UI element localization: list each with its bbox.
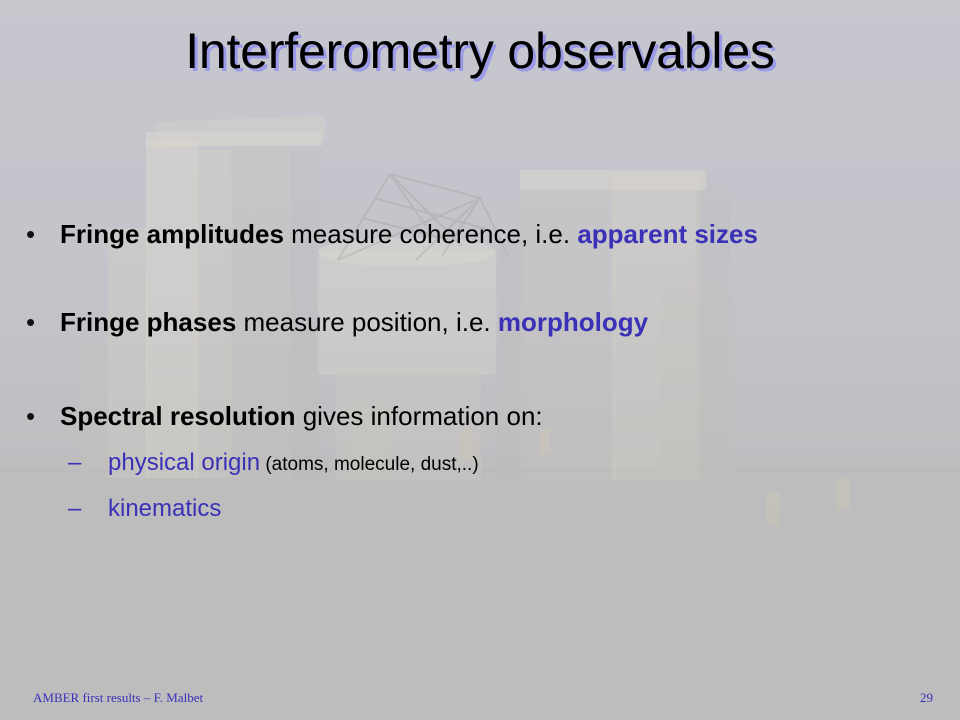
bullet-accent: morphology	[498, 307, 648, 337]
sub-bullet-note: (atoms, molecule, dust,..)	[260, 454, 479, 475]
sub-bullet-accent: kinematics	[108, 495, 221, 522]
bullet-lead: Fringe amplitudes	[60, 219, 284, 249]
sub-bullet-text: physical origin (atoms, molecule, dust,.…	[108, 450, 479, 476]
page-title: Interferometry observables	[0, 22, 960, 80]
bullet-text: Fringe amplitudes measure coherence, i.e…	[60, 220, 758, 249]
bullet-text: Spectral resolution gives information on…	[60, 402, 543, 431]
sub-bullet-item: – physical origin (atoms, molecule, dust…	[68, 450, 479, 476]
bullet-marker-icon: •	[26, 221, 60, 247]
bullet-item: • Fringe phases measure position, i.e. m…	[26, 308, 956, 337]
bullet-accent: apparent sizes	[577, 219, 758, 249]
bullet-lead: Fringe phases	[60, 307, 236, 337]
bullet-text: Fringe phases measure position, i.e. mor…	[60, 308, 648, 337]
bullet-marker-icon: •	[26, 309, 60, 335]
bullet-middle: measure coherence, i.e.	[284, 219, 577, 249]
sub-bullet-accent: physical origin	[108, 449, 260, 476]
bullet-item: • Fringe amplitudes measure coherence, i…	[26, 220, 956, 249]
bullet-middle: gives information on:	[296, 401, 543, 431]
footer-page-number: 29	[920, 690, 933, 706]
footer-attribution: AMBER first results – F. Malbet	[33, 690, 203, 706]
sub-bullet-marker-icon: –	[68, 497, 108, 521]
bullet-marker-icon: •	[26, 403, 60, 429]
sub-bullet-marker-icon: –	[68, 451, 108, 475]
bullet-middle: measure position, i.e.	[236, 307, 498, 337]
slide-content: Interferometry observables • Fringe ampl…	[0, 0, 960, 720]
bullet-lead: Spectral resolution	[60, 401, 296, 431]
sub-bullet-item: – kinematics	[68, 496, 221, 522]
sub-bullet-text: kinematics	[108, 496, 221, 522]
slide: Interferometry observables • Fringe ampl…	[0, 0, 960, 720]
bullet-item: • Spectral resolution gives information …	[26, 402, 956, 431]
